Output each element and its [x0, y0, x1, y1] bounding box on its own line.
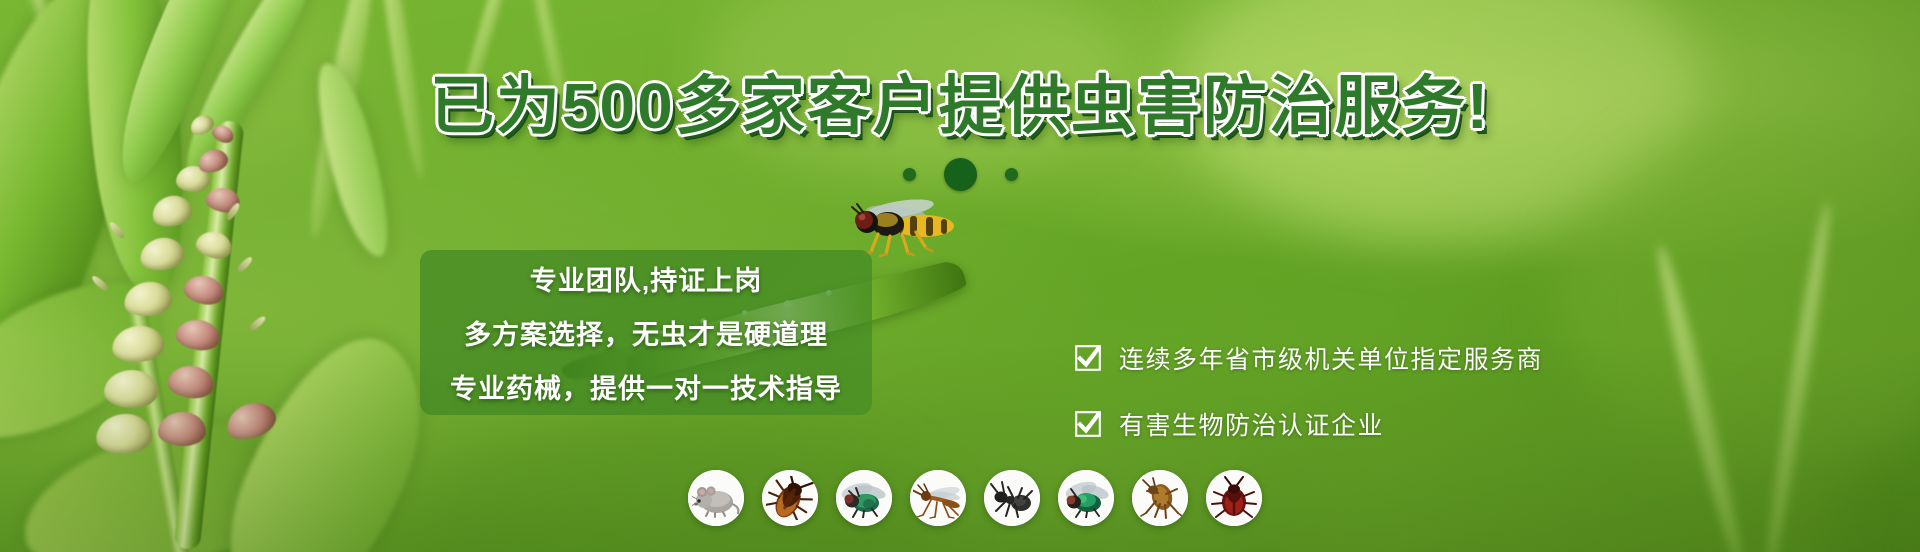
mosquito-icon: [913, 477, 963, 519]
pest-icon-cockroach[interactable]: [762, 470, 818, 526]
credentials-checklist: 连续多年省市级机关单位指定服务商 有害生物防治认证企业: [1075, 340, 1595, 472]
pest-icon-flea[interactable]: [1132, 470, 1188, 526]
bedbug-icon: [1210, 476, 1258, 520]
checkbox-checked-icon: [1075, 411, 1101, 437]
pest-control-hero-banner: 已为500多家客户提供虫害防治服务! 专业团队,持证上岗 多方案选择，无虫才是硬…: [0, 0, 1920, 552]
pest-icon-housefly[interactable]: [836, 470, 892, 526]
flea-icon: [1136, 477, 1184, 519]
ant-icon: [988, 477, 1036, 519]
selling-point-line-3: 专业药械，提供一对一技术指导: [420, 367, 872, 406]
cockroach-icon: [766, 476, 814, 520]
list-item: 连续多年省市级机关单位指定服务商: [1075, 340, 1595, 376]
pest-icon-mouse[interactable]: [688, 470, 744, 526]
selling-point-line-2: 多方案选择，无虫才是硬道理: [420, 313, 872, 352]
selling-points-panel: 专业团队,持证上岗 多方案选择，无虫才是硬道理 专业药械，提供一对一技术指导: [420, 250, 872, 415]
pest-icon-mosquito[interactable]: [910, 470, 966, 526]
housefly-icon: [839, 478, 889, 518]
pest-type-icon-row: [688, 470, 1262, 526]
credential-label: 有害生物防治认证企业: [1119, 406, 1384, 442]
credential-label: 连续多年省市级机关单位指定服务商: [1119, 340, 1543, 376]
decorative-dots: [0, 158, 1920, 191]
pest-icon-ant[interactable]: [984, 470, 1040, 526]
greenbottle-fly-icon: [1061, 478, 1111, 518]
dot-small-icon: [903, 168, 916, 181]
pest-icon-bedbug[interactable]: [1206, 470, 1262, 526]
pest-icon-greenbottle-fly[interactable]: [1058, 470, 1114, 526]
mouse-icon: [692, 478, 740, 518]
selling-point-line-1: 专业团队,持证上岗: [420, 259, 872, 298]
dot-large-icon: [944, 158, 977, 191]
dot-small-icon: [1005, 168, 1018, 181]
list-item: 有害生物防治认证企业: [1075, 406, 1595, 442]
checkbox-checked-icon: [1075, 345, 1101, 371]
